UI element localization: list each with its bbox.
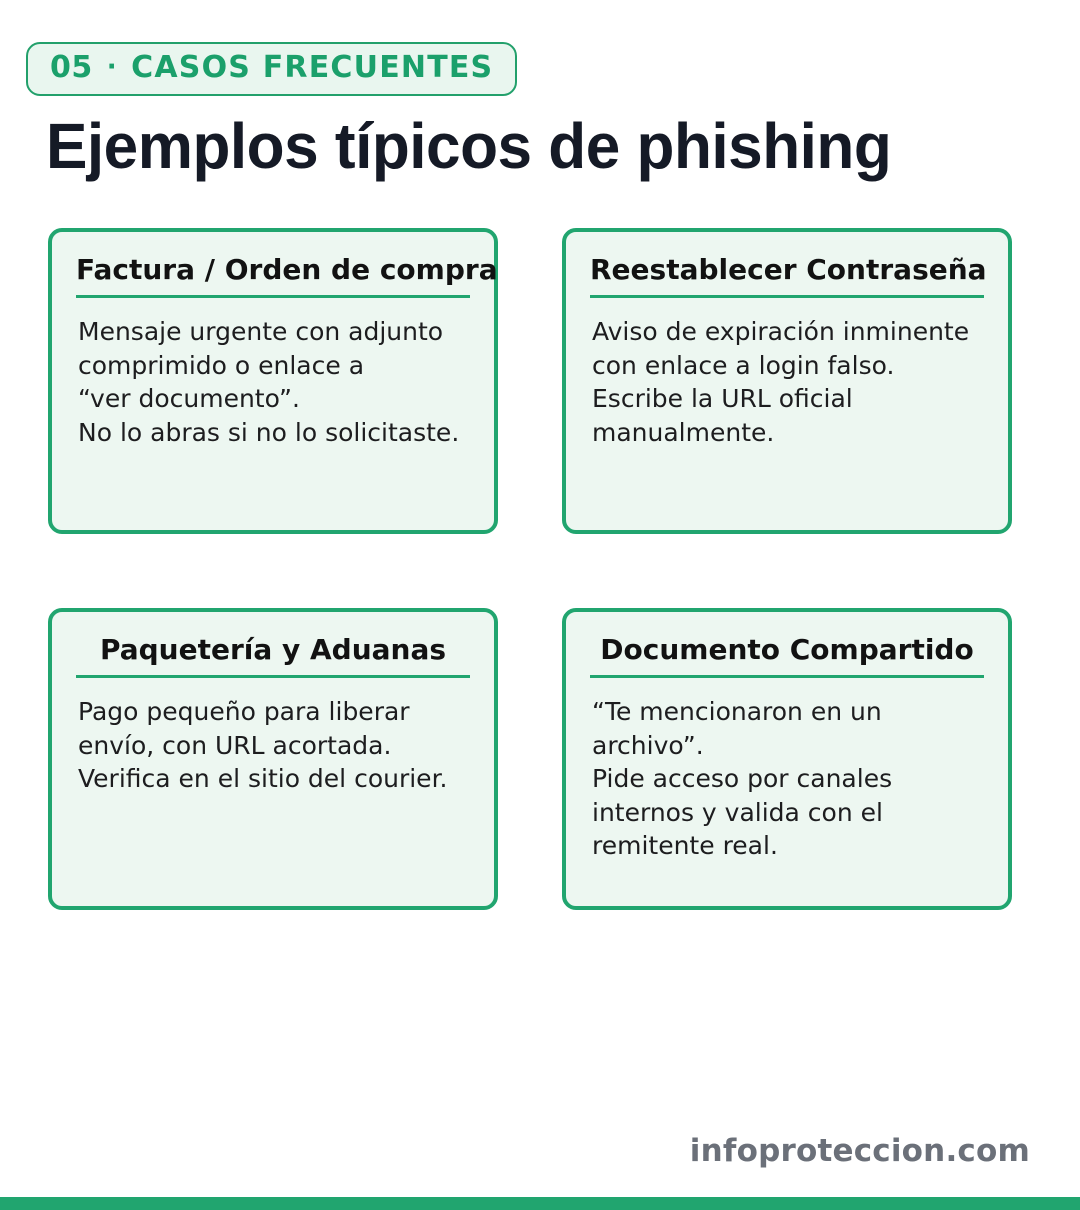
footer-brand: infoproteccion.com: [690, 1133, 1030, 1169]
section-badge: 05 · CASOS FRECUENTES: [26, 42, 517, 96]
card-title: Reestablecer Contraseña: [588, 250, 986, 287]
card-title-rule: [590, 675, 984, 678]
card-body: Pago pequeño para liberar envío, con URL…: [74, 695, 472, 796]
page-title: Ejemplos típicos de phishing: [46, 112, 891, 181]
badge-separator-dot: ·: [107, 54, 117, 80]
section-label: CASOS FRECUENTES: [131, 53, 493, 83]
card-title: Factura / Orden de compra: [74, 250, 472, 287]
card-body: Aviso de expiración inminente con enlace…: [588, 315, 986, 449]
card-title-rule: [76, 675, 470, 678]
card-paqueteria-y-aduanas: Paquetería y Aduanas Pago pequeño para l…: [48, 608, 498, 910]
card-title: Paquetería y Aduanas: [74, 630, 472, 667]
card-body: “Te mencionaron en un archivo”. Pide acc…: [588, 695, 986, 863]
examples-grid: Factura / Orden de compra Mensaje urgent…: [48, 228, 1016, 910]
card-title-rule: [76, 295, 470, 298]
card-body: Mensaje urgente con adjunto comprimido o…: [74, 315, 472, 449]
card-title: Documento Compartido: [588, 630, 986, 667]
card-documento-compartido: Documento Compartido “Te mencionaron en …: [562, 608, 1012, 910]
section-number: 05: [50, 53, 93, 83]
card-factura-orden-de-compra: Factura / Orden de compra Mensaje urgent…: [48, 228, 498, 534]
card-title-rule: [590, 295, 984, 298]
section-badge-container: 05 · CASOS FRECUENTES: [26, 42, 517, 96]
bottom-accent-bar: [0, 1197, 1080, 1210]
card-reestablecer-contrasena: Reestablecer Contraseña Aviso de expirac…: [562, 228, 1012, 534]
